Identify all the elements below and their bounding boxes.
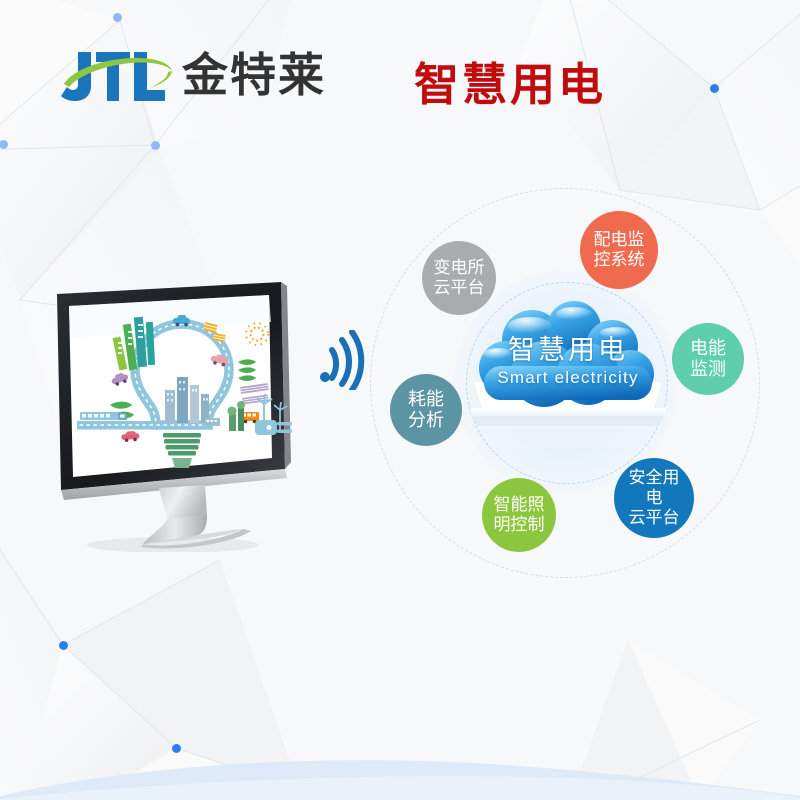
smart-electricity-diagram: 智慧用电 Smart electricity 变电所云平台 配电监控系统 电能监… [362,178,782,588]
bubble-line-2: 控系统 [590,250,649,270]
bubble-power-distribution-monitoring-system[interactable]: 配电监控系统 [580,211,658,289]
logo-chinese-name: 金特莱 [182,44,326,106]
bubble-substation-cloud-platform[interactable]: 变电所云平台 [422,241,496,315]
bubble-line-1: 电能 [686,338,730,359]
bubble-line-2: 分析 [404,410,448,431]
bubble-line-1: 变电所 [430,258,489,278]
desktop-monitor-icon [55,282,320,552]
background-node-dot [113,13,122,22]
bubble-power-monitoring[interactable]: 电能监测 [672,323,744,395]
bubble-line-2: 明控制 [490,515,549,535]
bubble-smart-lighting-control[interactable]: 智能照明控制 [482,478,556,552]
bubble-line-2: 云平台 [430,278,489,298]
brand-logo: 金特莱 [58,44,326,106]
bubble-energy-consumption-analysis[interactable]: 耗能分析 [390,374,462,446]
bubble-line-1: 安全用电 [618,468,690,508]
bottom-wave-decoration [0,700,800,800]
poster-canvas: 金特莱 智慧用电 [0,0,800,800]
bubble-line-1: 智能照 [490,495,549,515]
background-node-dot [710,84,719,93]
bubble-line-2: 监测 [686,359,730,380]
page-title: 智慧用电 [414,48,606,113]
background-node-dot [151,141,160,150]
bubble-safe-electricity-cloud-platform[interactable]: 安全用电云平台 [614,458,694,538]
background-node-dot [59,641,68,650]
bubble-line-1: 配电监 [590,230,649,250]
bubble-line-2: 云平台 [618,508,690,528]
cloud-icon [470,300,666,430]
bubble-line-1: 耗能 [404,389,448,410]
jtl-logo-mark [58,44,178,106]
